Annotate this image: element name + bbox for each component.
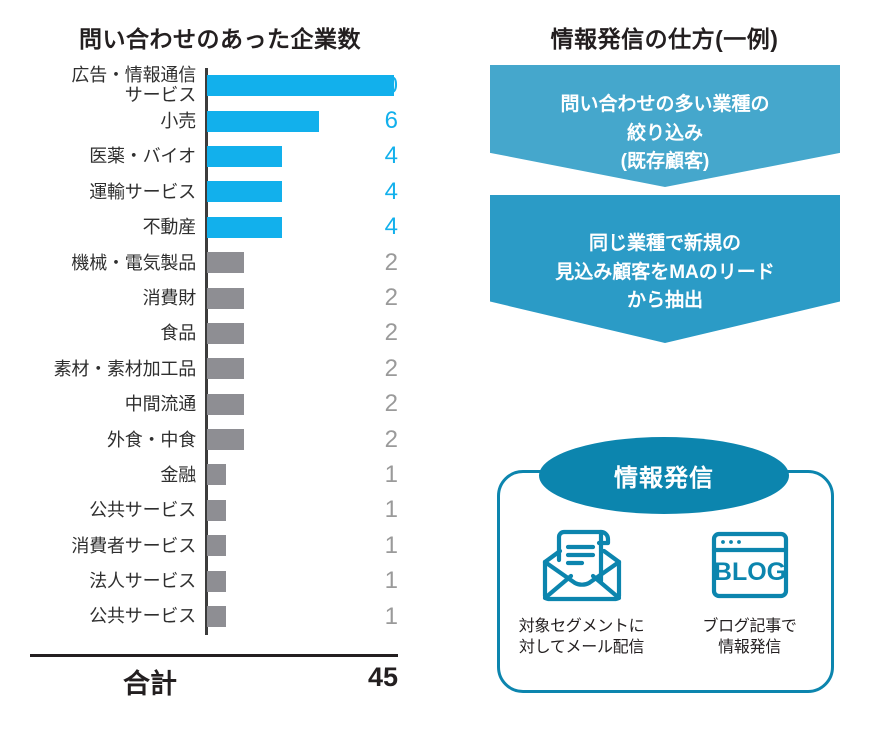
- result-item-mail: 対象セグメントに 対してメール配信: [512, 520, 652, 695]
- bar-row: 運輸サービス4: [0, 174, 440, 209]
- bar: [207, 146, 282, 167]
- total-divider: [30, 654, 398, 657]
- mail-icon: [512, 520, 652, 610]
- bar-cell: [207, 563, 226, 598]
- bar: [207, 429, 244, 450]
- bar-row: 公共サービス1: [0, 493, 440, 528]
- result-item-blog-caption: ブログ記事で 情報発信: [680, 616, 820, 658]
- bar-value-label: 2: [340, 390, 398, 418]
- bar-category-label: 金融: [10, 465, 196, 485]
- bar-cell: [207, 493, 226, 528]
- bar-category-label: 消費者サービス: [10, 536, 196, 556]
- bar-row-list: 広告・情報通信 サービス10小売6医薬・バイオ4運輸サービス4不動産4機械・電気…: [0, 68, 440, 634]
- bar: [207, 464, 226, 485]
- flow-step-2-label: 同じ業種で新規の 見込み顧客をMAのリード から抽出: [555, 195, 775, 316]
- blog-window-icon: BLOG: [680, 520, 820, 610]
- total-label: 合計: [0, 662, 300, 701]
- bar-cell: [207, 528, 226, 563]
- bar-chart-panel: 問い合わせのあった企業数 広告・情報通信 サービス10小売6医薬・バイオ4運輸サ…: [0, 0, 440, 732]
- bar-category-label: 公共サービス: [10, 606, 196, 626]
- bar-row: 金融1: [0, 457, 440, 492]
- bar-row: 消費財2: [0, 280, 440, 315]
- bar-value-label: 2: [340, 319, 398, 347]
- bar-row: 素材・素材加工品2: [0, 351, 440, 386]
- bar-value-label: 1: [340, 567, 398, 595]
- bar-cell: [207, 139, 282, 174]
- bar-category-label: 食品: [10, 323, 196, 343]
- bar-category-label: 公共サービス: [10, 500, 196, 520]
- bar-category-label: 不動産: [10, 217, 196, 237]
- bar-row: 外食・中食2: [0, 422, 440, 457]
- bar: [207, 358, 244, 379]
- bar-row: 機械・電気製品2: [0, 245, 440, 280]
- bar-value-label: 4: [340, 178, 398, 206]
- bar-category-label: 中間流通: [10, 394, 196, 414]
- bar-cell: [207, 210, 282, 245]
- bar-cell: [207, 599, 226, 634]
- bar-row: 不動産4: [0, 210, 440, 245]
- bar: [207, 323, 244, 344]
- infographic-page: 問い合わせのあった企業数 広告・情報通信 サービス10小売6医薬・バイオ4運輸サ…: [0, 0, 889, 732]
- bar-value-label: 6: [340, 107, 398, 135]
- bar: [207, 535, 226, 556]
- blog-icon-text: BLOG: [713, 558, 785, 586]
- bar: [207, 394, 244, 415]
- bar-category-label: 医薬・バイオ: [10, 146, 196, 166]
- flow-step-2: 同じ業種で新規の 見込み顧客をMAのリード から抽出: [490, 195, 840, 343]
- bar-row: 食品2: [0, 316, 440, 351]
- bar-value-label: 2: [340, 355, 398, 383]
- bar-cell: [207, 280, 244, 315]
- bar-cell: [207, 103, 319, 138]
- flow-step-1: 問い合わせの多い業種の 絞り込み (既存顧客): [490, 65, 840, 187]
- bar-row: 法人サービス1: [0, 563, 440, 598]
- bar-row: 医薬・バイオ4: [0, 139, 440, 174]
- bar-category-label: 小売: [10, 111, 196, 131]
- bar-row: 公共サービス1: [0, 599, 440, 634]
- bar-cell: [207, 351, 244, 386]
- result-badge: 情報発信: [539, 437, 789, 514]
- chart-plot-area: 広告・情報通信 サービス10小売6医薬・バイオ4運輸サービス4不動産4機械・電気…: [0, 68, 440, 638]
- bar-value-label: 10: [340, 72, 398, 100]
- bar: [207, 181, 282, 202]
- flow-title: 情報発信の仕方(一例): [440, 20, 889, 54]
- bar-cell: [207, 387, 244, 422]
- bar-cell: [207, 245, 244, 280]
- bar-row: 小売6: [0, 103, 440, 138]
- bar: [207, 111, 319, 132]
- bar: [207, 217, 282, 238]
- bar-category-label: 法人サービス: [10, 571, 196, 591]
- bar-category-label: 消費財: [10, 288, 196, 308]
- bar-value-label: 1: [340, 461, 398, 489]
- result-item-blog: BLOG ブログ記事で 情報発信: [680, 520, 820, 695]
- chart-title: 問い合わせのあった企業数: [0, 20, 440, 54]
- bar-category-label: 素材・素材加工品: [10, 359, 196, 379]
- bar-value-label: 2: [340, 249, 398, 277]
- flow-diagram-panel: 情報発信の仕方(一例) 問い合わせの多い業種の 絞り込み (既存顧客) 同じ業種…: [440, 0, 889, 732]
- bar: [207, 288, 244, 309]
- bar: [207, 252, 244, 273]
- bar: [207, 500, 226, 521]
- bar-cell: [207, 457, 226, 492]
- bar-value-label: 2: [340, 426, 398, 454]
- bar-category-label: 外食・中食: [10, 430, 196, 450]
- result-item-mail-caption: 対象セグメントに 対してメール配信: [512, 616, 652, 658]
- result-badge-label: 情報発信: [614, 458, 714, 493]
- result-item-list: 対象セグメントに 対してメール配信 BLOG ブログ記事で 情報発信: [497, 520, 834, 695]
- bar-row: 中間流通2: [0, 387, 440, 422]
- bar-cell: [207, 174, 282, 209]
- bar-cell: [207, 316, 244, 351]
- bar: [207, 571, 226, 592]
- bar-value-label: 1: [340, 603, 398, 631]
- bar-value-label: 2: [340, 284, 398, 312]
- bar-row: 広告・情報通信 サービス10: [0, 68, 440, 103]
- bar-cell: [207, 422, 244, 457]
- bar-category-label: 機械・電気製品: [10, 253, 196, 273]
- bar: [207, 606, 226, 627]
- total-value: 45: [320, 662, 398, 693]
- bar-value-label: 4: [340, 142, 398, 170]
- bar-category-label: 運輸サービス: [10, 182, 196, 202]
- bar-row: 消費者サービス1: [0, 528, 440, 563]
- flow-step-1-label: 問い合わせの多い業種の 絞り込み (既存顧客): [560, 65, 769, 177]
- bar-category-label: 広告・情報通信 サービス: [10, 66, 196, 106]
- bar-value-label: 1: [340, 532, 398, 560]
- bar-value-label: 4: [340, 213, 398, 241]
- bar-value-label: 1: [340, 496, 398, 524]
